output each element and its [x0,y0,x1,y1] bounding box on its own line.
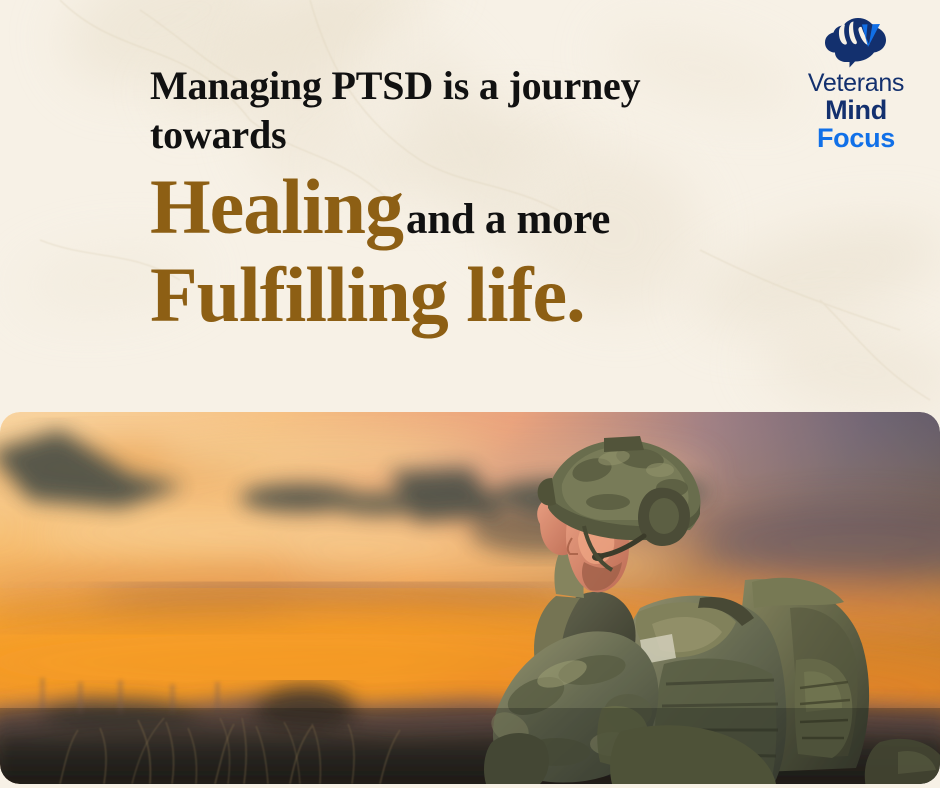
headline-block: Managing PTSD is a journey towards Heali… [150,62,790,337]
brain-v-logo-icon [823,16,889,68]
headline-line-1-text: Managing PTSD is a journey [150,63,640,108]
logo-word-focus: Focus [794,125,918,152]
soldier-at-sunset-photo [0,412,940,784]
headline-line-3: Healing and a more [150,166,790,249]
headline-line-1: Managing PTSD is a journey towards [150,62,790,160]
photo-artwork [0,412,940,784]
headline-line-2-text: towards [150,112,286,157]
brand-logo[interactable]: Veterans Mind Focus [794,16,918,152]
logo-word-veterans: Veterans [794,71,918,96]
logo-word-mind: Mind [794,97,918,124]
headline-word-fulfilling-life: Fulfilling life. [150,251,585,338]
poster-canvas: Managing PTSD is a journey towards Heali… [0,0,940,788]
headline-word-and-a-more: and a more [406,196,610,243]
headline-line-4: Fulfilling life. [150,254,790,337]
headline-word-healing: Healing [150,163,403,250]
